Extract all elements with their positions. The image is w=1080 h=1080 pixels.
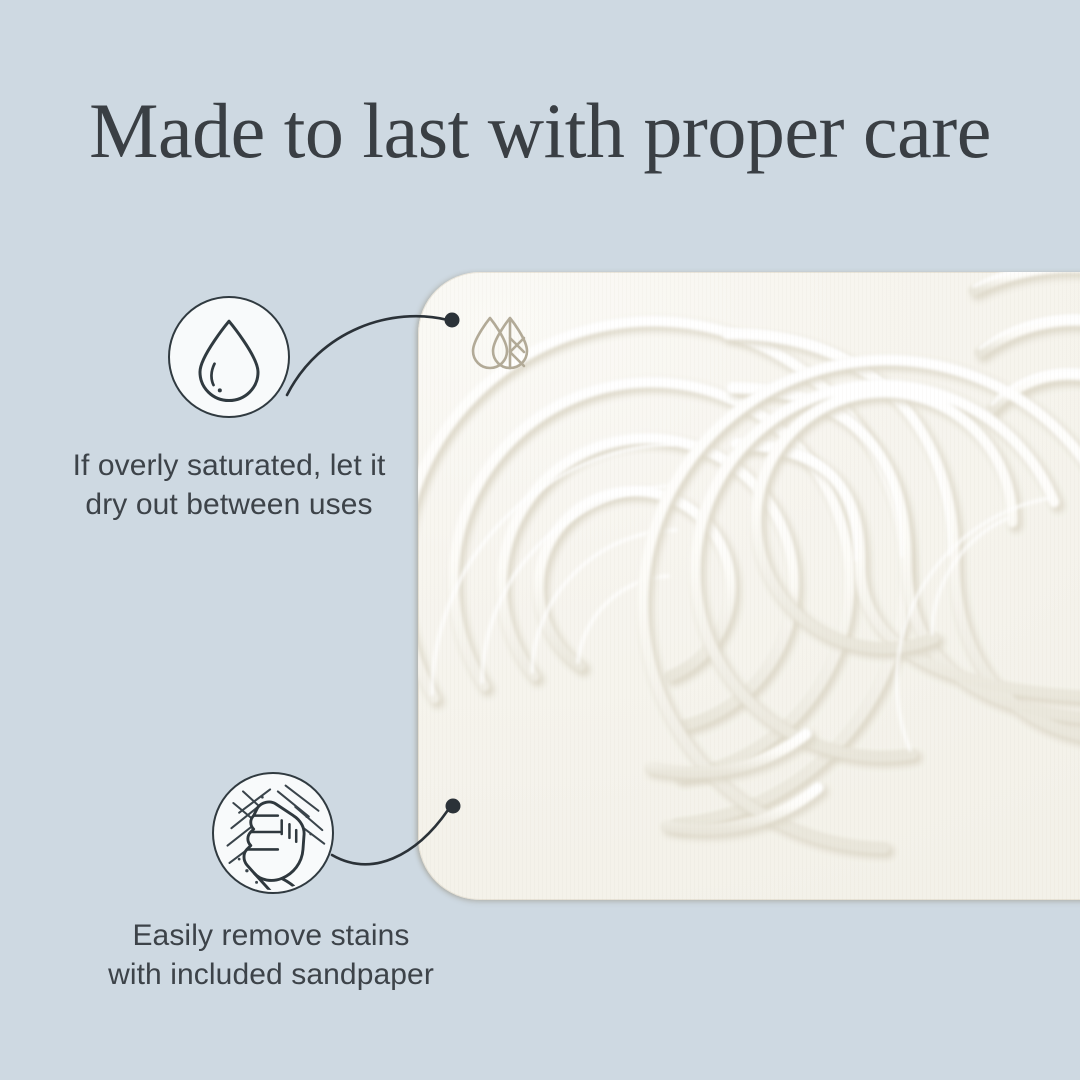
product-bath-mat: [418, 272, 1080, 900]
callout-caption-sandpaper: Easily remove stains with included sandp…: [58, 916, 484, 994]
water-drop-icon-bubble[interactable]: [168, 296, 290, 418]
hand-sanding-icon-bubble[interactable]: [212, 772, 334, 894]
caption-line: If overly saturated, let it: [16, 446, 442, 485]
hand-sanding-icon: [214, 774, 332, 892]
infographic-canvas: Made to last with proper care: [0, 0, 1080, 1080]
page-title: Made to last with proper care: [0, 92, 1080, 170]
leaf-droplet-logo: [465, 308, 537, 380]
caption-line: Easily remove stains: [58, 916, 484, 955]
caption-line: dry out between uses: [16, 485, 442, 524]
caption-line: with included sandpaper: [58, 955, 484, 994]
mat-surface: [418, 272, 1080, 900]
water-drop-icon: [170, 298, 288, 416]
callout-caption-water: If overly saturated, let it dry out betw…: [16, 446, 442, 524]
